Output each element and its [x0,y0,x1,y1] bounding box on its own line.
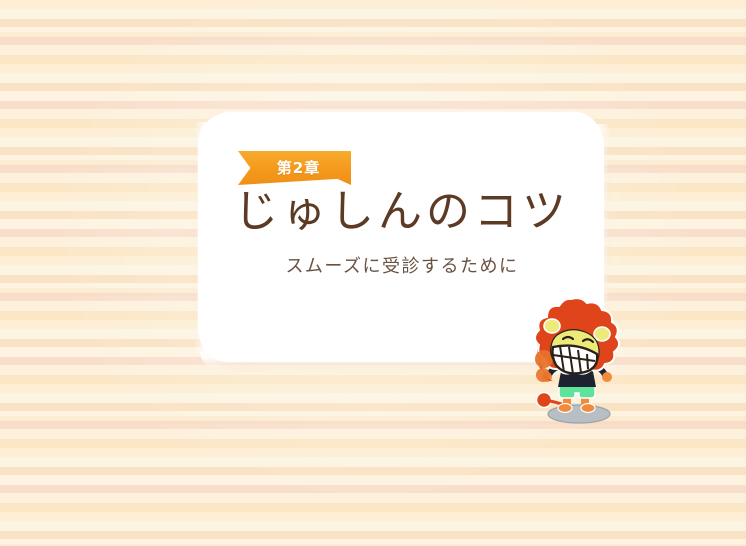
mascot-base-ellipse [548,405,610,423]
mascot-ear-right [594,327,610,341]
mascot-foot-right [581,404,595,413]
page-title: じゅしんのコツ [198,190,606,234]
page-subtitle: スムーズに受診するために [198,256,606,278]
lion-mascot [519,297,623,429]
lion-mascot-icon [519,297,623,429]
card-edge-left [194,122,208,354]
chapter-ribbon-badge: 第2章 [238,151,351,185]
mascot-ear-left [544,319,560,333]
card-edge-top [218,109,586,123]
chapter-label: 第2章 [238,151,351,185]
mascot-foot-left [558,404,572,413]
mascot-hand-right [602,372,612,382]
slide-root: 第2章 じゅしんのコツ スムーズに受診するために [0,0,746,546]
